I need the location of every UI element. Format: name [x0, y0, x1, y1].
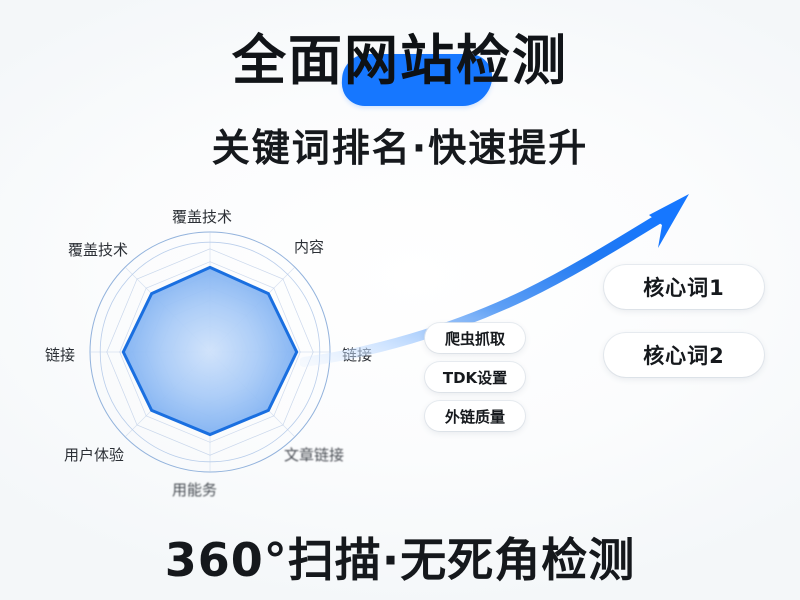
subtitle: 关键词排名·快速提升	[0, 117, 800, 172]
footer-headline: 360°扫描·无死角检测	[0, 524, 800, 590]
headline-part-after: 检测	[456, 29, 568, 92]
pill-keyword-1[interactable]: 核心词1	[604, 265, 764, 309]
page-title: 全面网站检测	[232, 34, 568, 88]
pill-crawl[interactable]: 爬虫抓取	[425, 323, 525, 353]
headline-block: 全面网站检测	[0, 34, 800, 88]
poster-canvas: 全面网站检测 关键词排名·快速提升 覆盖技术 内容 链接 文章链接 用能务 用户…	[0, 0, 800, 600]
pill-keyword-2[interactable]: 核心词2	[604, 333, 764, 377]
radar-label-bottom: 用能务	[172, 479, 217, 500]
pill-tdk[interactable]: TDK设置	[425, 362, 525, 392]
radar-label-top: 覆盖技术	[172, 206, 232, 227]
headline-part-highlight: 网站	[344, 29, 456, 92]
radar-series	[123, 267, 296, 434]
radar-label-upper-left: 覆盖技术	[68, 239, 128, 260]
radar-label-lower-left: 用户体验	[64, 444, 124, 465]
radar-label-left: 链接	[45, 344, 75, 365]
headline-part-before: 全面	[232, 29, 344, 92]
pill-backlink[interactable]: 外链质量	[425, 401, 525, 431]
radar-label-lower-right: 文章链接	[284, 444, 344, 465]
